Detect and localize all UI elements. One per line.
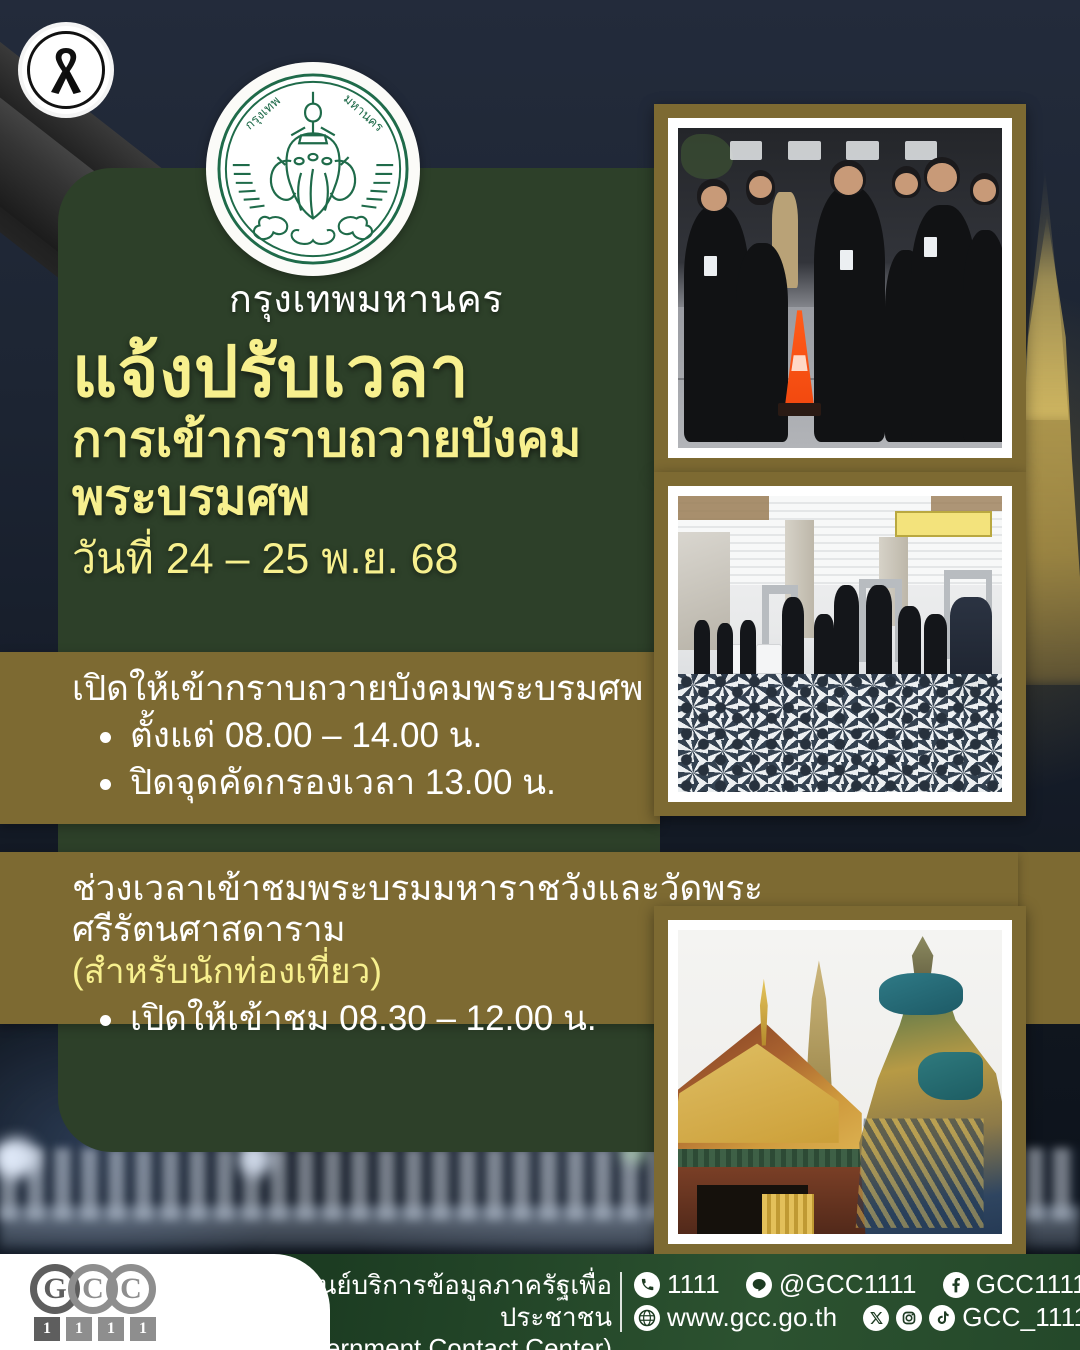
gcc-digits: 1 1 1 1 [34, 1317, 190, 1341]
visitor-figure [694, 620, 710, 679]
visitor-figure [740, 620, 756, 679]
exit-sign [895, 511, 992, 538]
gcc-digit: 1 [130, 1317, 156, 1341]
contact-website[interactable]: www.gcc.go.th [667, 1302, 837, 1333]
photo-image [678, 930, 1002, 1234]
poster-root: กรุงเทพ มหานคร กรุงเทพมหานคร แจ้งปรับเวล… [0, 0, 1080, 1350]
tent-canopy [846, 141, 878, 160]
contact-line[interactable]: @GCC1111 [779, 1269, 917, 1300]
visitor-badge [924, 237, 937, 257]
title-line-3: พระบรมศพ [72, 469, 660, 528]
visitor-figure [717, 623, 733, 679]
list-item: ปิดจุดคัดกรองเวลา 13.00 น. [96, 760, 660, 807]
face [834, 166, 863, 195]
foliage [681, 134, 733, 179]
info-block-a-heading: เปิดให้เข้ากราบถวายบังคมพระบรมศพ [0, 652, 660, 709]
line-icon [746, 1272, 772, 1298]
metal-detector-gate [859, 579, 865, 662]
wood-trim [931, 496, 1002, 511]
yaksha-face [879, 973, 963, 1016]
date-line: วันที่ 24 – 25 พ.ย. 68 [72, 532, 660, 588]
footer-contacts: 1111 @GCC1111 GCC1111 www.gcc.go.th [634, 1268, 1080, 1334]
footer-org-name: ศูนย์บริการข้อมูลภาครัฐเพื่อประชาชน (Gov… [212, 1270, 612, 1350]
gcc-letter: C [106, 1264, 156, 1314]
photo-mat [668, 118, 1012, 458]
contact-facebook[interactable]: GCC1111 [976, 1269, 1080, 1300]
yaksha-arm [918, 1052, 983, 1101]
visitor-figure [866, 585, 892, 680]
info-block-royal-viewing: เปิดให้เข้ากราบถวายบังคมพระบรมศพ ตั้งแต่… [0, 652, 660, 824]
tan-strip-right [1018, 852, 1080, 1024]
metal-detector-gate-top [944, 570, 993, 579]
contact-social[interactable]: GCC_1111 [962, 1302, 1080, 1333]
metal-detector-gate-top [762, 585, 798, 594]
visitor-figure [782, 597, 805, 680]
headline-block: กรุงเทพมหานคร แจ้งปรับเวลา การเข้ากราบถว… [72, 268, 660, 588]
bma-emblem: กรุงเทพ มหานคร [206, 62, 420, 276]
footer-org-thai: ศูนย์บริการข้อมูลภาครัฐเพื่อประชาชน [212, 1270, 612, 1333]
facebook-icon [943, 1272, 969, 1298]
contact-row-top: 1111 @GCC1111 GCC1111 [634, 1268, 1080, 1301]
tent-canopy [788, 141, 820, 160]
title-line-1: แจ้งปรับเวลา [72, 335, 660, 411]
photo-grand-palace-yaksha [654, 906, 1026, 1258]
kicker-bangkok: กรุงเทพมหานคร [106, 268, 626, 329]
mourning-ribbon-badge [22, 26, 110, 114]
contact-row-bottom: www.gcc.go.th GCC_1111 [634, 1301, 1080, 1334]
list-item: ตั้งแต่ 08.00 – 14.00 น. [96, 713, 660, 760]
website-globe-icon [634, 1305, 660, 1331]
gcc-logo: G C C 1 1 1 1 [30, 1264, 190, 1338]
mourner-figure [814, 186, 885, 442]
instagram-icon [896, 1305, 922, 1331]
title-line-2: การเข้ากราบถวายบังคม [72, 411, 660, 470]
photo-image [678, 128, 1002, 448]
plastic-chair [756, 644, 782, 674]
footer-divider [620, 1272, 622, 1332]
tent-canopy [730, 141, 762, 160]
photo-mat [668, 920, 1012, 1244]
face [895, 173, 918, 195]
photo-mat [668, 486, 1012, 802]
visitor-figure [814, 614, 833, 679]
visitor-figure [924, 614, 947, 679]
photo-mourners-in-black [654, 104, 1026, 472]
face [927, 163, 956, 192]
contact-phone[interactable]: 1111 [667, 1269, 720, 1300]
gcc-digit: 1 [34, 1317, 60, 1341]
gilded-door-panel [762, 1194, 814, 1234]
phone-icon [634, 1272, 660, 1298]
tent-canopy [905, 141, 937, 160]
info-block-a-bullets: ตั้งแต่ 08.00 – 14.00 น. ปิดจุดคัดกรองเว… [0, 713, 660, 807]
footer-bar: G C C 1 1 1 1 ศูนย์บริการข้อมูลภาครัฐเพื… [0, 1254, 1080, 1350]
traffic-cone-base [778, 403, 820, 416]
tile-pattern-overlay [678, 674, 1002, 792]
visitor-badge [840, 250, 853, 270]
gcc-digit: 1 [98, 1317, 124, 1341]
photo-image [678, 496, 1002, 792]
photo-security-screening [654, 472, 1026, 816]
x-twitter-icon [863, 1305, 889, 1331]
yaksha-armor-pattern [853, 1118, 989, 1227]
badge-ring [27, 31, 105, 109]
visitor-figure [834, 585, 860, 680]
face [701, 186, 727, 212]
tiktok-icon [929, 1305, 955, 1331]
face [973, 179, 996, 201]
gcc-letters: G C C [30, 1264, 190, 1314]
gcc-digit: 1 [66, 1317, 92, 1341]
wood-trim [678, 496, 769, 520]
bma-seal-icon: กรุงเทพ มหานคร [214, 70, 412, 268]
visitor-figure [898, 606, 921, 680]
mourner-figure [963, 230, 1002, 441]
visitor-badge [704, 256, 717, 276]
footer-org-english: (Government Contact Center) [212, 1333, 612, 1350]
